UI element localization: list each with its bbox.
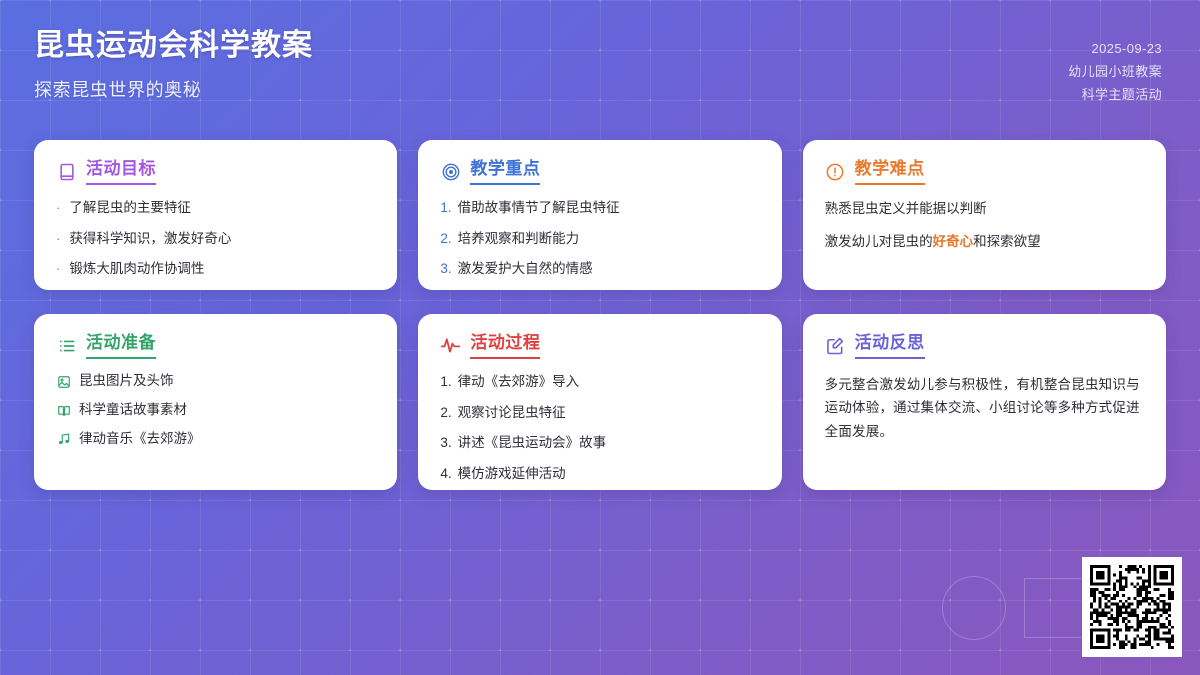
qr-code[interactable] bbox=[1082, 557, 1182, 657]
paragraph: 熟悉昆虫定义并能据以判断 bbox=[825, 199, 1144, 218]
process-list: 1. 律动《去郊游》导入 2. 观察讨论昆虫特征 3. 讲述《昆虫运动会》故事 … bbox=[440, 373, 759, 482]
list-item-text: 律动音乐《去郊游》 bbox=[79, 431, 201, 448]
card-title: 活动反思 bbox=[855, 332, 925, 359]
page-header: 昆虫运动会科学教案 探索昆虫世界的奥秘 2025-09-23 幼儿园小班教案 科… bbox=[0, 0, 1200, 128]
card-difficulties[interactable]: 教学难点 熟悉昆虫定义并能据以判断 激发幼儿对昆虫的好奇心和探索欲望 bbox=[803, 140, 1166, 290]
list-number: 3. bbox=[440, 260, 451, 278]
edit-square-icon bbox=[825, 335, 846, 356]
highlighted-text: 好奇心 bbox=[933, 234, 974, 249]
decorative-circle bbox=[942, 576, 1006, 640]
card-title: 活动过程 bbox=[470, 332, 540, 359]
bullet-dot: · bbox=[56, 232, 60, 245]
header-meta: 2025-09-23 幼儿园小班教案 科学主题活动 bbox=[1068, 26, 1162, 106]
reflection-text: 多元整合激发幼儿参与积极性，有机整合昆虫知识与运动体验，通过集体交流、小组讨论等… bbox=[825, 373, 1144, 443]
list-item-text: 了解昆虫的主要特征 bbox=[69, 199, 191, 217]
pulse-icon bbox=[440, 335, 461, 356]
card-header: 教学难点 bbox=[825, 158, 1144, 185]
page-title: 昆虫运动会科学教案 bbox=[34, 26, 313, 67]
list-item: 3. 讲述《昆虫运动会》故事 bbox=[440, 434, 759, 452]
book-icon bbox=[56, 161, 77, 182]
card-process[interactable]: 活动过程 1. 律动《去郊游》导入 2. 观察讨论昆虫特征 3. 讲述《昆虫运动… bbox=[418, 314, 781, 490]
list-item: 4. 模仿游戏延伸活动 bbox=[440, 465, 759, 483]
list-item-text: 模仿游戏延伸活动 bbox=[458, 465, 566, 483]
image-icon bbox=[56, 374, 71, 389]
list-item: 昆虫图片及头饰 bbox=[56, 373, 375, 390]
list-item: 3. 激发爱护大自然的情感 bbox=[440, 260, 759, 278]
card-header: 活动反思 bbox=[825, 332, 1144, 359]
alert-circle-icon bbox=[825, 161, 846, 182]
page-subtitle: 探索昆虫世界的奥秘 bbox=[34, 76, 313, 102]
list-item-text: 获得科学知识，激发好奇心 bbox=[69, 230, 231, 248]
list-item-text: 锻炼大肌肉动作协调性 bbox=[69, 260, 204, 278]
list-item: 1. 律动《去郊游》导入 bbox=[440, 373, 759, 391]
card-objectives[interactable]: 活动目标 · 了解昆虫的主要特征 · 获得科学知识，激发好奇心 · 锻炼大肌肉动… bbox=[34, 140, 397, 290]
list-item: · 获得科学知识，激发好奇心 bbox=[56, 230, 375, 248]
card-header: 教学重点 bbox=[440, 158, 759, 185]
list-number: 4. bbox=[440, 465, 451, 483]
card-title: 活动目标 bbox=[86, 158, 156, 185]
bullet-dot: · bbox=[56, 201, 60, 214]
card-header: 活动过程 bbox=[440, 332, 759, 359]
meta-audience: 幼儿园小班教案 bbox=[1068, 61, 1162, 84]
list-number: 3. bbox=[440, 434, 451, 452]
list-item-text: 昆虫图片及头饰 bbox=[79, 373, 174, 390]
card-title: 教学重点 bbox=[470, 158, 540, 185]
list-number: 1. bbox=[440, 373, 451, 391]
list-item-text: 讲述《昆虫运动会》故事 bbox=[458, 434, 607, 452]
list-item-text: 培养观察和判断能力 bbox=[458, 230, 580, 248]
list-item-text: 科学童话故事素材 bbox=[79, 402, 187, 419]
list-item-text: 激发爱护大自然的情感 bbox=[458, 260, 593, 278]
meta-date: 2025-09-23 bbox=[1068, 38, 1162, 61]
card-title: 教学难点 bbox=[855, 158, 925, 185]
preparation-list: 昆虫图片及头饰 科学童话故事素材 律动音乐《去郊 bbox=[56, 373, 375, 448]
list-icon bbox=[56, 335, 77, 356]
list-item: 2. 观察讨论昆虫特征 bbox=[440, 404, 759, 422]
header-left: 昆虫运动会科学教案 探索昆虫世界的奥秘 bbox=[34, 26, 313, 102]
list-number: 1. bbox=[440, 199, 451, 217]
list-item: 2. 培养观察和判断能力 bbox=[440, 230, 759, 248]
list-item: · 锻炼大肌肉动作协调性 bbox=[56, 260, 375, 278]
target-icon bbox=[440, 161, 461, 182]
meta-category: 科学主题活动 bbox=[1068, 84, 1162, 107]
bullet-dot: · bbox=[56, 262, 60, 275]
card-header: 活动准备 bbox=[56, 332, 375, 359]
card-header: 活动目标 bbox=[56, 158, 375, 185]
card-reflection[interactable]: 活动反思 多元整合激发幼儿参与积极性，有机整合昆虫知识与运动体验，通过集体交流、… bbox=[803, 314, 1166, 490]
objective-list: · 了解昆虫的主要特征 · 获得科学知识，激发好奇心 · 锻炼大肌肉动作协调性 bbox=[56, 199, 375, 278]
card-preparation[interactable]: 活动准备 昆虫图片及头饰 科学童话故事素材 bbox=[34, 314, 397, 490]
list-item-text: 观察讨论昆虫特征 bbox=[458, 404, 566, 422]
paragraph-text: 熟悉昆虫定义并能据以判断 bbox=[825, 201, 987, 216]
list-number: 2. bbox=[440, 230, 451, 248]
qr-code-image bbox=[1090, 565, 1174, 649]
list-item-text: 律动《去郊游》导入 bbox=[458, 373, 580, 391]
paragraph-text-pre: 激发幼儿对昆虫的 bbox=[825, 234, 933, 249]
list-item: 1. 借助故事情节了解昆虫特征 bbox=[440, 199, 759, 217]
difficulty-paragraphs: 熟悉昆虫定义并能据以判断 激发幼儿对昆虫的好奇心和探索欲望 bbox=[825, 199, 1144, 251]
list-item-text: 借助故事情节了解昆虫特征 bbox=[458, 199, 620, 217]
paragraph: 激发幼儿对昆虫的好奇心和探索欲望 bbox=[825, 232, 1144, 251]
card-grid: 活动目标 · 了解昆虫的主要特征 · 获得科学知识，激发好奇心 · 锻炼大肌肉动… bbox=[34, 140, 1166, 490]
decorative-rectangle bbox=[1024, 578, 1088, 638]
list-item: · 了解昆虫的主要特征 bbox=[56, 199, 375, 217]
paragraph-text-post: 和探索欲望 bbox=[973, 234, 1041, 249]
key-point-list: 1. 借助故事情节了解昆虫特征 2. 培养观察和判断能力 3. 激发爱护大自然的… bbox=[440, 199, 759, 278]
card-title: 活动准备 bbox=[86, 332, 156, 359]
open-book-icon bbox=[56, 403, 71, 418]
list-item: 科学童话故事素材 bbox=[56, 402, 375, 419]
card-key-points[interactable]: 教学重点 1. 借助故事情节了解昆虫特征 2. 培养观察和判断能力 3. 激发爱… bbox=[418, 140, 781, 290]
music-note-icon bbox=[56, 432, 71, 447]
list-item: 律动音乐《去郊游》 bbox=[56, 431, 375, 448]
list-number: 2. bbox=[440, 404, 451, 422]
